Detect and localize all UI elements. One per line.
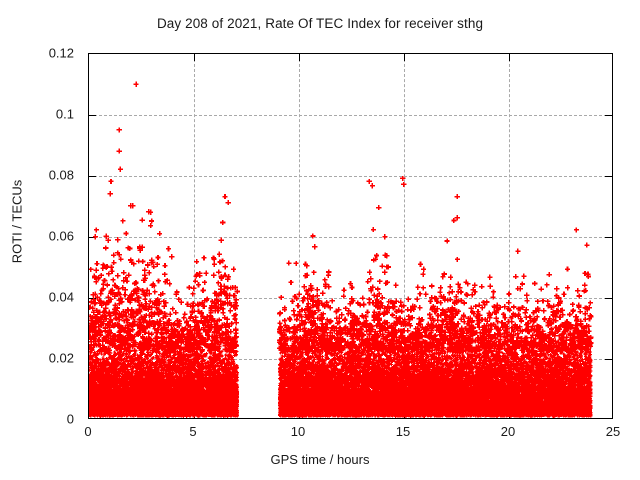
chart-root: Day 208 of 2021, Rate Of TEC Index for r… [0,0,640,480]
plot-area [88,53,613,419]
x-tick-label: 10 [291,424,305,439]
x-tick-label: 20 [501,424,515,439]
y-axis-tick-labels: 0 0.02 0.04 0.06 0.08 0.1 0.12 [0,53,84,419]
y-tick-label: 0.12 [49,46,74,61]
chart-title: Day 208 of 2021, Rate Of TEC Index for r… [0,16,640,31]
x-axis-title: GPS time / hours [0,452,640,467]
x-axis-tick-labels: 0 5 10 15 20 25 [0,424,640,448]
x-tick-label: 5 [189,424,196,439]
y-tick-label: 0.08 [49,168,74,183]
x-tick-label: 15 [396,424,410,439]
scatter-points-layer [89,54,612,418]
x-tick-label: 0 [84,424,91,439]
y-tick-label: 0.02 [49,351,74,366]
y-tick-label: 0.04 [49,290,74,305]
y-tick-label: 0.06 [49,229,74,244]
y-tick-label: 0.1 [56,107,74,122]
x-tick-label: 25 [606,424,620,439]
